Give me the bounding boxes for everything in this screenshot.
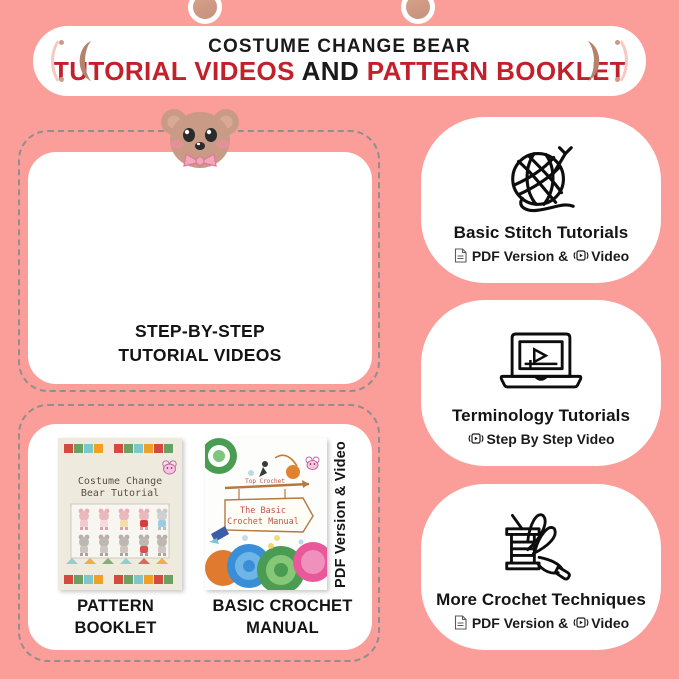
basic-crochet-manual-cover[interactable]: Top Crochet The Basic Crochet Manual [205, 438, 327, 590]
booklet-labels: PATTERN BOOKLET BASIC CROCHET MANUAL [28, 596, 372, 640]
page-title-line1: COSTUME CHANGE BEAR [53, 36, 626, 57]
tutorial-videos-label-line2: TUTORIAL VIDEOS [28, 344, 372, 368]
feature-card-title: Terminology Tutorials [452, 406, 630, 426]
yarn-ball-with-hook-icon [497, 137, 585, 217]
svg-text:Bear Tutorial: Bear Tutorial [81, 488, 159, 499]
pattern-booklet-label: PATTERN BOOKLET [32, 596, 199, 640]
decorative-dome-left [188, 0, 222, 24]
banner-dot [615, 40, 620, 45]
thread-spool-scissors-icon [495, 504, 587, 584]
crescent-moon-icon [71, 39, 95, 83]
svg-text:Costume Change: Costume Change [78, 476, 162, 487]
video-play-icon [467, 431, 482, 446]
basic-manual-label-line1: BASIC CROCHET [199, 596, 366, 618]
basic-manual-label: BASIC CROCHET MANUAL [199, 596, 366, 640]
pattern-booklet-label-line1: PATTERN [32, 596, 199, 618]
feature-card-sub-text-video: Video [591, 248, 629, 264]
feature-card-subtitle: Step By Step Video [467, 431, 614, 447]
feature-card-basic-stitch[interactable]: Basic Stitch Tutorials PDF Version & Vid… [421, 117, 661, 283]
feature-card-sub-text-video: Step By Step Video [486, 431, 614, 447]
decorative-dome-right [401, 0, 435, 24]
crescent-moon-icon [584, 39, 608, 83]
header-banner: COSTUME CHANGE BEAR TUTORIAL VIDEOS AND … [33, 26, 646, 96]
feature-card-title: More Crochet Techniques [436, 590, 646, 610]
bear-mascot-icon [150, 104, 250, 170]
booklet-side-note: PDF Version & Video [330, 438, 352, 590]
feature-card-more-techniques[interactable]: More Crochet Techniques PDF Version & Vi… [421, 484, 661, 650]
feature-card-sub-text-pdf: PDF Version & [472, 248, 568, 264]
feature-card-title: Basic Stitch Tutorials [454, 223, 629, 243]
feature-card-sub-text-video: Video [591, 615, 629, 631]
feature-card-subtitle: PDF Version & Video [453, 615, 629, 631]
video-play-icon [572, 248, 587, 263]
feature-card-subtitle: PDF Version & Video [453, 248, 629, 264]
banner-dot [59, 77, 64, 82]
page-title-line2: TUTORIAL VIDEOS AND PATTERN BOOKLET [53, 57, 626, 86]
pattern-booklet-label-line2: BOOKLET [32, 618, 199, 640]
page-title-and: AND [302, 56, 360, 86]
banner-dot [615, 77, 620, 82]
svg-text:The Basic: The Basic [240, 506, 286, 516]
tutorial-videos-label: STEP-BY-STEP TUTORIAL VIDEOS [28, 320, 372, 367]
pdf-document-icon [453, 248, 468, 263]
header-title-block: COSTUME CHANGE BEAR TUTORIAL VIDEOS AND … [53, 36, 626, 86]
feature-card-sub-text-pdf: PDF Version & [472, 615, 568, 631]
svg-text:Crochet Manual: Crochet Manual [227, 517, 299, 527]
video-play-icon [572, 615, 587, 630]
laptop-video-icon [489, 320, 593, 400]
banner-dot [59, 40, 64, 45]
tutorial-videos-label-line1: STEP-BY-STEP [28, 320, 372, 344]
pattern-booklet-cover[interactable]: Costume Change Bear Tutorial [58, 438, 182, 590]
pdf-document-icon [453, 615, 468, 630]
basic-manual-label-line2: MANUAL [199, 618, 366, 640]
svg-text:Top Crochet: Top Crochet [245, 478, 285, 485]
feature-card-terminology[interactable]: Terminology Tutorials Step By Step Video [421, 300, 661, 466]
